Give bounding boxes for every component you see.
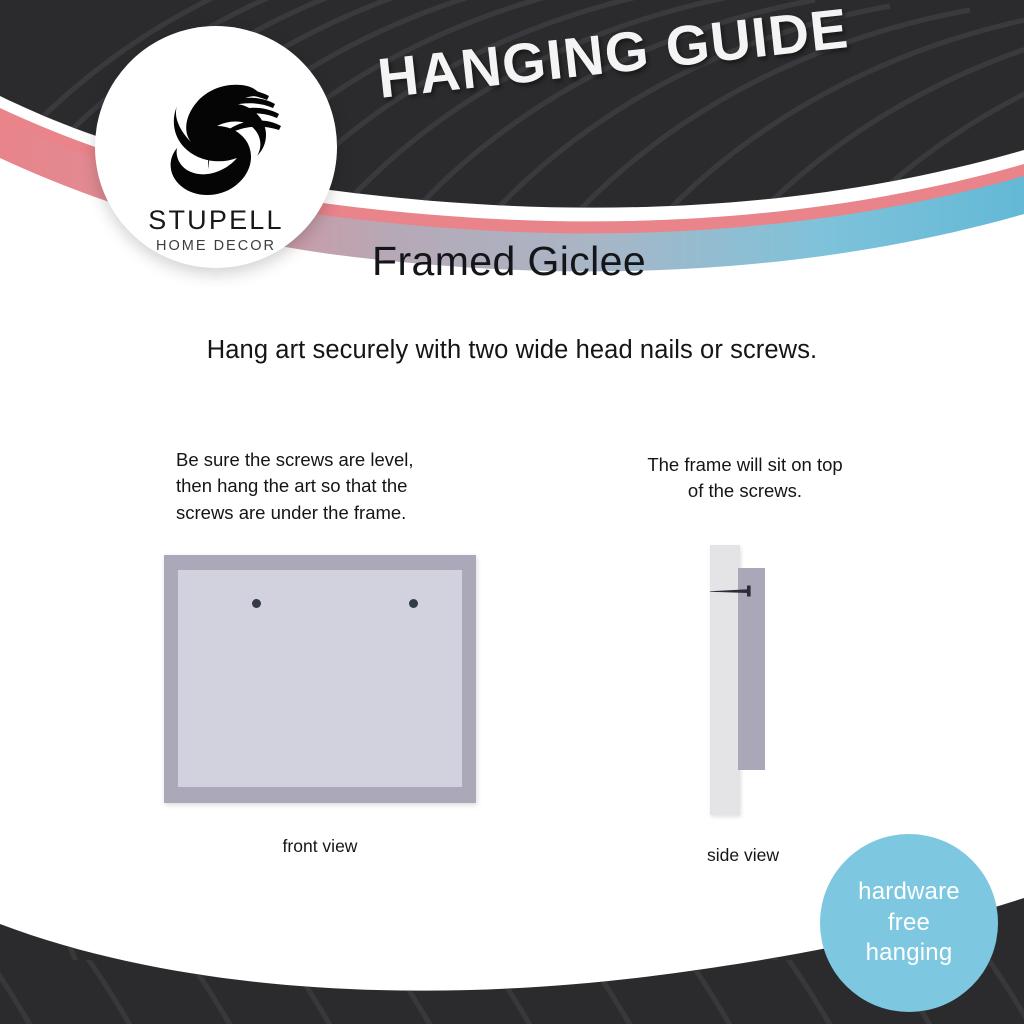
caption-line: then hang the art so that the <box>176 473 476 499</box>
front-view-caption: Be sure the screws are level, then hang … <box>176 447 476 526</box>
hardware-free-hanging-badge: hardware free hanging <box>820 834 998 1012</box>
page-title: HANGING GUIDE <box>374 0 851 111</box>
caption-line: Be sure the screws are level, <box>176 447 476 473</box>
frame-mat-area <box>178 570 462 787</box>
caption-line: screws are under the frame. <box>176 500 476 526</box>
badge-line: hardware <box>858 877 960 908</box>
product-name: Framed Giclee <box>372 238 646 285</box>
badge-line: free <box>888 908 930 939</box>
hanging-guide-infographic: STUPELL HOME DECOR HANGING GUIDE Framed … <box>0 0 1024 1024</box>
frame-profile-strip <box>738 568 765 770</box>
brand-name: STUPELL <box>95 206 337 234</box>
screw-hole-dot-left <box>252 599 261 608</box>
caption-line: of the screws. <box>605 478 885 504</box>
side-view-label: side view <box>668 845 818 866</box>
badge-line: hanging <box>866 938 953 969</box>
brand-wordmark: STUPELL HOME DECOR <box>95 206 337 254</box>
screw-hole-dot-right <box>409 599 418 608</box>
front-view-frame-diagram <box>164 555 476 803</box>
main-instruction-text: Hang art securely with two wide head nai… <box>0 336 1024 365</box>
side-view-caption: The frame will sit on top of the screws. <box>605 452 885 505</box>
brand-logo-badge: STUPELL HOME DECOR <box>95 26 337 268</box>
stupell-swan-s-logo-icon <box>151 72 281 204</box>
caption-line: The frame will sit on top <box>605 452 885 478</box>
side-view-frame-diagram <box>700 540 790 820</box>
screw-side-profile-icon <box>708 584 758 598</box>
front-view-label: front view <box>164 836 476 857</box>
brand-tagline: HOME DECOR <box>95 238 337 254</box>
